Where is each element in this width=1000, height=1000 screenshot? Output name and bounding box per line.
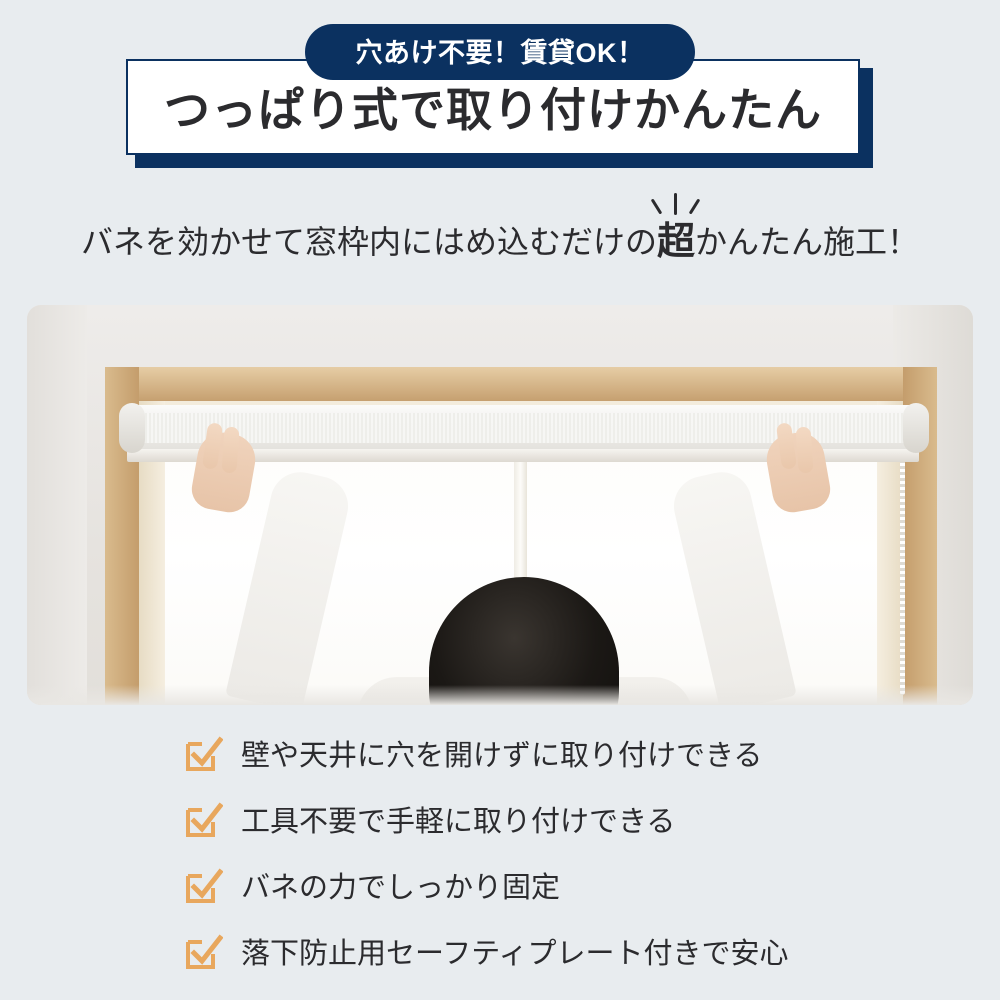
subtitle-emphasis-wrap: 超 xyxy=(657,223,695,261)
roller-blind-end-left xyxy=(119,403,145,453)
subtitle-text-before: バネを効かせて窓枠内にはめ込むだけの xyxy=(81,226,657,258)
feature-label: 壁や天井に穴を開けずに取り付けできる xyxy=(241,739,762,771)
feature-list: 壁や天井に穴を開けずに取り付けできる 工具不要で手軽に取り付けできる バネの力で… xyxy=(0,722,1000,986)
window-frame-top xyxy=(105,367,937,401)
photo-bottom-fade xyxy=(27,685,973,705)
sparkle-stroke-center xyxy=(674,193,678,215)
feature-label: 落下防止用セーフティプレート付きで安心 xyxy=(241,937,789,969)
page-title: つっぱり式で取り付けかんたん xyxy=(164,81,822,133)
header-block: つっぱり式で取り付けかんたん 穴あけ不要！賃貸OK！ xyxy=(0,0,1000,180)
person-finger-right-2 xyxy=(795,427,813,474)
photo-wall-left-shade xyxy=(27,305,87,705)
subtitle-text-after: かんたん施工！ xyxy=(695,226,919,258)
feature-item: バネの力でしっかり固定 xyxy=(0,854,1000,920)
feature-item: 工具不要で手軽に取り付けできる xyxy=(0,788,1000,854)
checkbox-checked-icon xyxy=(185,802,223,840)
sparkle-stroke-left xyxy=(651,198,663,214)
header-badge: 穴あけ不要！賃貸OK！ xyxy=(305,24,695,80)
person-finger-left-2 xyxy=(221,427,239,474)
blind-bead-chain xyxy=(900,445,905,695)
feature-label: 工具不要で手軽に取り付けできる xyxy=(241,805,675,837)
feature-item: 落下防止用セーフティプレート付きで安心 xyxy=(0,920,1000,986)
subtitle-emphasis-char: 超 xyxy=(657,221,695,263)
sparkle-stroke-right xyxy=(689,198,701,214)
sparkle-icon xyxy=(649,193,703,219)
header-badge-label: 穴あけ不要！賃貸OK！ xyxy=(356,38,645,67)
installation-photo xyxy=(27,305,973,705)
subtitle: バネを効かせて窓枠内にはめ込むだけの 超 かんたん施工！ xyxy=(0,212,1000,272)
roller-blind-end-right xyxy=(903,403,929,453)
feature-item: 壁や天井に穴を開けずに取り付けできる xyxy=(0,722,1000,788)
checkbox-checked-icon xyxy=(185,934,223,972)
checkbox-checked-icon xyxy=(185,736,223,774)
feature-label: バネの力でしっかり固定 xyxy=(241,871,560,903)
checkbox-checked-icon xyxy=(185,868,223,906)
